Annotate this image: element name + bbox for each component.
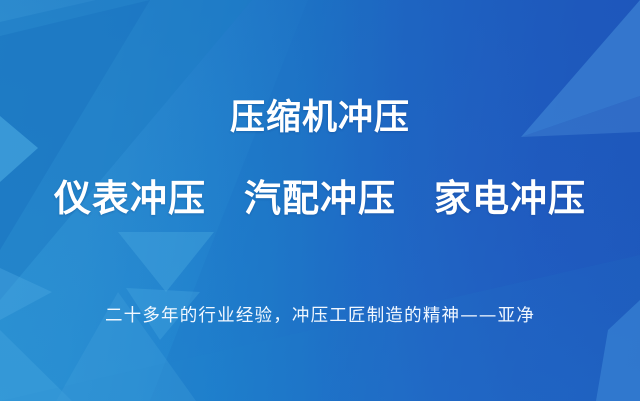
services-text: 仪表冲压 汽配冲压 家电冲压: [0, 178, 640, 221]
tagline-text: 二十多年的行业经验，冲压工匠制造的精神——亚净: [0, 306, 640, 327]
banner-content: 压缩机冲压 仪表冲压 汽配冲压 家电冲压 二十多年的行业经验，冲压工匠制造的精神…: [0, 0, 640, 401]
promo-banner: 压缩机冲压 仪表冲压 汽配冲压 家电冲压 二十多年的行业经验，冲压工匠制造的精神…: [0, 0, 640, 401]
headline-text: 压缩机冲压: [0, 98, 640, 138]
